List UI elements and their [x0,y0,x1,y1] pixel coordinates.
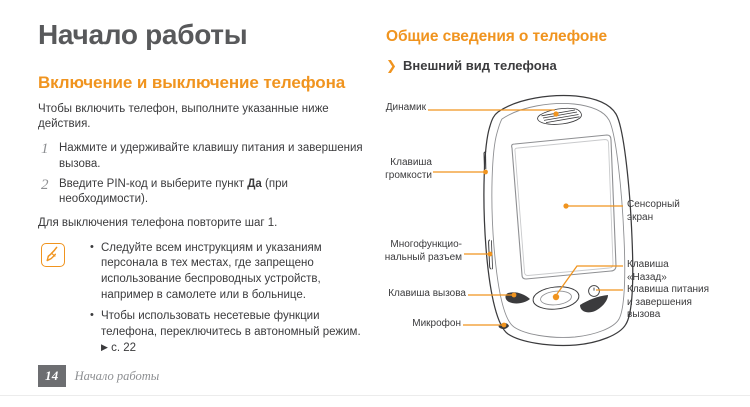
step-text-before: Введите PIN-код и выберите пункт [59,178,247,190]
chevron-right-icon: ❯ [386,58,397,74]
callout-speaker: Динамик [370,102,426,115]
note-list: Следуйте всем инструкциям и указаниям пе… [90,241,368,356]
note-item-text: Чтобы использовать несетевые функции тел… [101,310,361,338]
callout-volume-key: Клавиша громкости [370,157,432,182]
note-item: Чтобы использовать несетевые функции тел… [90,309,368,356]
step-number: 2 [41,176,49,196]
left-column: Начало работы Включение и выключение тел… [38,20,368,362]
page-ref-arrow-icon: ▶ [101,342,108,352]
callout-microphone: Микрофон [358,318,461,331]
right-subheading: ❯Внешний вид телефона [386,58,736,73]
right-heading: Общие сведения о телефоне [386,28,736,46]
right-column: Общие сведения о телефоне ❯Внешний вид т… [386,28,736,73]
callout-power-end-key: Клавиша питания и завершения вызова [627,284,737,322]
right-subheading-label: Внешний вид телефона [403,58,557,73]
note-pen-icon [41,243,65,267]
callout-multifunction-jack: Многофункцио- нальный разъем [358,239,462,264]
note-item: Следуйте всем инструкциям и указаниям пе… [90,241,368,304]
step-item-1: 1 Нажмите и удерживайте клавишу питания … [38,141,368,172]
callout-call-key: Клавиша вызова [358,288,466,301]
page-ref: с. 22 [108,342,136,354]
step-text: Нажмите и удерживайте клавишу питания и … [59,142,363,169]
callout-touchscreen: Сенсорный экран [627,199,723,224]
after-steps-paragraph: Для выключения телефона повторите шаг 1. [38,216,368,231]
step-item-2: 2 Введите PIN-код и выберите пункт Да (п… [38,177,368,208]
intro-paragraph: Чтобы включить телефон, выполните указан… [38,102,368,133]
callout-back-key: Клавиша «Назад» [627,259,723,284]
section-heading: Включение и выключение телефона [38,73,368,93]
step-text-emphasis: Да [247,178,262,190]
phone-diagram: Динамик Клавиша громкости Многофункцио- … [380,88,750,353]
footer-chapter-title: Начало работы [75,369,160,384]
footer-divider [0,395,750,396]
page-number: 14 [38,365,66,387]
step-number: 1 [41,140,49,160]
footer: 14 Начало работы [38,365,159,387]
steps-list: 1 Нажмите и удерживайте клавишу питания … [38,141,368,207]
page-title: Начало работы [38,20,368,51]
note-block: Следуйте всем инструкциям и указаниям пе… [38,241,368,356]
manual-page: Начало работы Включение и выключение тел… [0,0,750,407]
